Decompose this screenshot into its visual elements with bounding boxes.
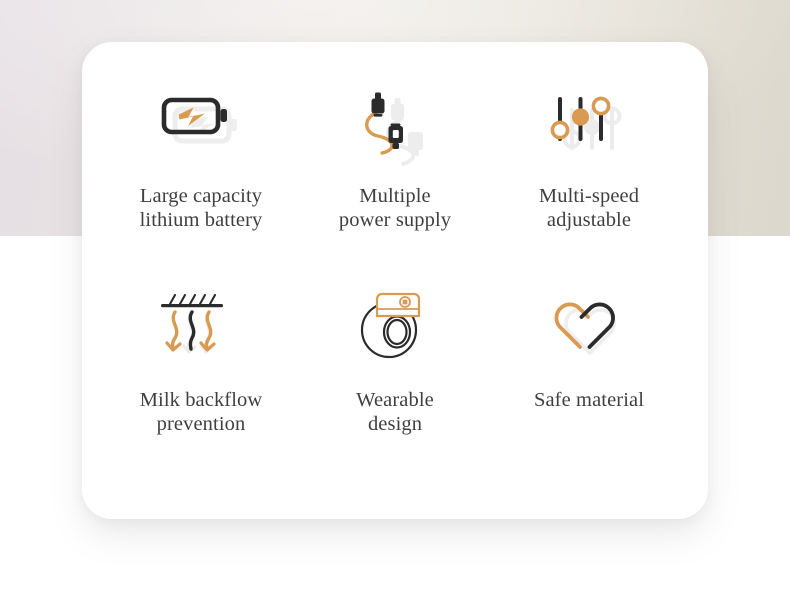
heart-icon: [529, 285, 649, 363]
backflow-main: [161, 295, 223, 350]
feature-item-multi-speed-adjustable: Multi-speed adjustable: [492, 84, 686, 285]
slider-knob-1: [552, 122, 567, 137]
feature-label: Wearable design: [356, 388, 434, 436]
feature-item-safe-material: Safe material: [492, 285, 686, 486]
feature-item-wearable-design: Wearable design: [298, 285, 492, 486]
backflow-arrows-icon: [141, 285, 261, 363]
feature-item-multiple-power-supply: Multiple power supply: [298, 84, 492, 285]
pump-motor-housing: [377, 294, 419, 316]
usb-cable-icon: [335, 84, 455, 162]
flow-arrow-right: [201, 312, 214, 350]
feature-label: Multi-speed adjustable: [539, 184, 639, 232]
wearable-pump-icon: [335, 285, 455, 363]
feature-label: Multiple power supply: [339, 184, 451, 232]
slider-knob-3: [593, 98, 608, 113]
feature-label: Large capacity lithium battery: [140, 184, 263, 232]
sliders-icon: [529, 84, 649, 162]
wearable-main: [362, 294, 419, 357]
usb-connector-top: [372, 93, 385, 117]
battery-bolt-icon: [141, 84, 261, 162]
slider-knob-2: [572, 108, 589, 125]
feature-label: Safe material: [534, 388, 644, 412]
feature-grid: Large capacity lithium battery: [82, 42, 708, 519]
barrier-line: [161, 295, 223, 307]
feature-item-milk-backflow-prevention: Milk backflow prevention: [104, 285, 298, 486]
feature-item-large-capacity-lithium-battery: Large capacity lithium battery: [104, 84, 298, 285]
sliders-main: [552, 97, 608, 141]
feature-label: Milk backflow prevention: [140, 388, 263, 436]
feature-card: Large capacity lithium battery: [82, 42, 708, 519]
flow-arrow-left: [167, 312, 180, 350]
